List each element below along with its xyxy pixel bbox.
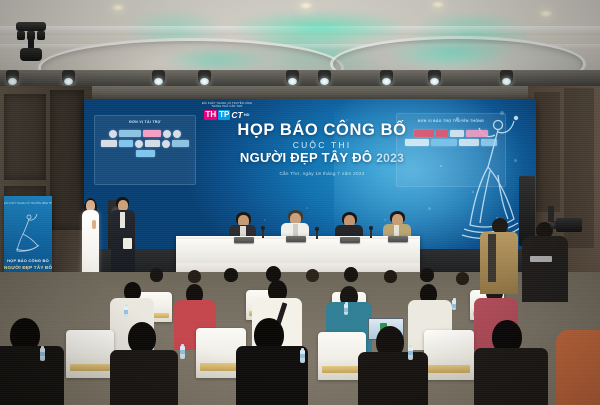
media-sponsor-logo <box>466 130 488 137</box>
stage-spotlight <box>198 70 211 85</box>
name-plate <box>388 236 408 242</box>
media-sponsor-logo <box>405 139 429 146</box>
stage-spotlight <box>318 70 331 85</box>
sponsor-logo <box>162 140 170 148</box>
sponsor-logo <box>163 130 171 138</box>
crew-badge <box>530 256 552 262</box>
station-logo-block-1: TH <box>204 110 217 120</box>
camera-mount <box>548 206 554 222</box>
stage-spotlight <box>62 70 75 85</box>
mc-hand <box>92 220 96 229</box>
table-microphone <box>262 228 264 238</box>
station-logo-block-2: TP <box>218 110 230 120</box>
stage-spotlight <box>152 70 165 85</box>
water-bottle <box>344 304 348 315</box>
sponsor-panel-left: ĐƠN VỊ TÀI TRỢ <box>94 115 196 185</box>
water-bottle <box>300 350 305 363</box>
sponsor-logo <box>135 140 143 148</box>
name-plate <box>286 236 306 242</box>
sponsor-logo <box>119 140 133 147</box>
water-bottle <box>124 306 128 317</box>
led-backdrop-screen: ĐÀI PHÁT THANH VÀ TRUYỀN HÌNH THÀNH PHỐ … <box>84 99 536 251</box>
stage-spotlight <box>6 70 19 85</box>
standee-line-2: NGƯỜI ĐẸP TÂY ĐÔ 2023 <box>4 265 52 270</box>
vest-stripe <box>488 234 496 282</box>
ceiling-downlight <box>112 4 124 11</box>
ceiling-downlight <box>432 1 444 8</box>
stage-spotlight <box>428 70 441 85</box>
water-bottle <box>408 347 413 360</box>
water-bottle <box>452 300 456 310</box>
press-conference-photo: ĐÀI PHÁT THANH VÀ TRUYỀN HÌNH THÀNH PHỐ … <box>0 0 600 405</box>
audience-chair <box>66 330 114 378</box>
media-sponsor-logo <box>436 130 448 137</box>
station-hd-badge: HD <box>244 112 250 117</box>
ceiling-downlight <box>300 2 312 9</box>
media-sponsor-logo <box>481 139 497 146</box>
sponsor-panel-right: ĐƠN VỊ BẢO TRỢ TRUYỀN THÔNG <box>396 113 506 187</box>
stage-spotlight <box>286 70 299 85</box>
sponsor-logo <box>101 140 117 147</box>
water-bottle <box>40 348 45 361</box>
standee-lady-icon <box>15 212 41 252</box>
stage-spotlight <box>500 70 513 85</box>
sponsor-logo <box>145 140 160 147</box>
stage-spotlight <box>380 70 393 85</box>
sponsor-logo <box>119 130 141 137</box>
table-microphone <box>370 228 372 238</box>
station-logo-block-3: CT <box>231 110 242 120</box>
mc-cue-card <box>123 238 132 249</box>
standee-line-1: HỌP BÁO CÔNG BỐ <box>4 258 52 263</box>
ceiling-truss-light <box>16 22 46 62</box>
media-sponsor-logo <box>459 139 479 146</box>
media-sponsor-logo <box>450 130 464 137</box>
name-plate <box>234 237 254 243</box>
table-microphone <box>316 229 318 239</box>
name-plate <box>340 237 360 243</box>
sponsor-logo <box>172 140 189 147</box>
sponsor-panel-left-heading: ĐƠN VỊ TÀI TRỢ <box>95 120 195 124</box>
standee-top-line: ĐÀI PHÁT THANH VÀ TRUYỀN HÌNH TP CẦN THƠ <box>4 202 52 205</box>
sponsor-logo <box>136 150 155 157</box>
tv-station-logo: ĐÀI PHÁT THANH VÀ TRUYỀN HÌNH THÀNH PHỐ … <box>194 102 260 120</box>
video-camera <box>556 218 582 232</box>
audience-chair <box>424 330 474 380</box>
media-sponsor-logo <box>414 130 434 137</box>
station-tagline-2: THÀNH PHỐ CẦN THƠ <box>194 105 260 108</box>
contest-name-text: NGƯỜI ĐẸP TÂY ĐÔ <box>240 150 372 165</box>
ceiling-downlight <box>540 10 552 17</box>
sponsor-panel-right-heading: ĐƠN VỊ BẢO TRỢ TRUYỀN THÔNG <box>397 119 505 123</box>
water-bottle <box>180 346 185 359</box>
sponsor-logo <box>143 130 161 137</box>
media-sponsor-logo <box>431 139 457 146</box>
sponsor-logo <box>173 130 181 138</box>
sponsor-logo <box>109 130 117 138</box>
